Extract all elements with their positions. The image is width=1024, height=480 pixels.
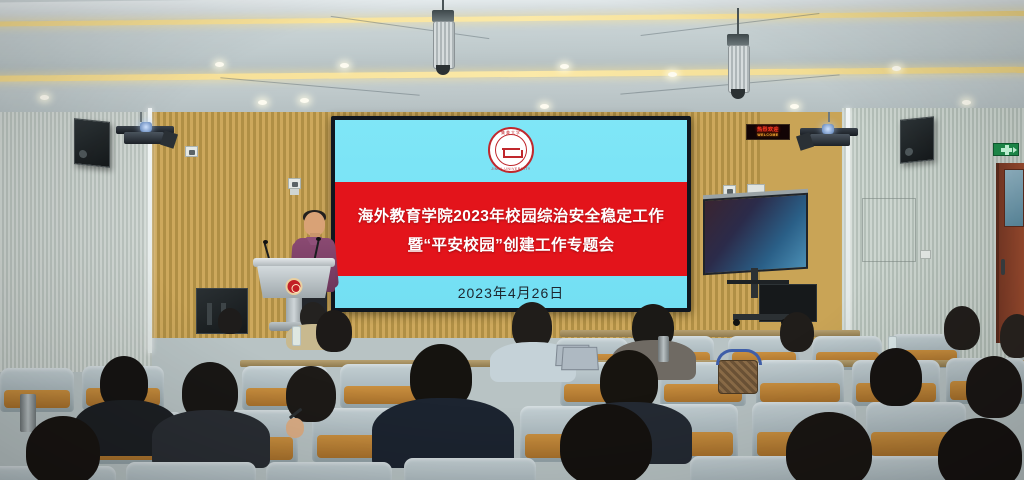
thermos	[658, 336, 669, 362]
ceiling-downlight	[962, 100, 971, 105]
led-presentation-screen[interactable]: 集美大学 JIMEI UNIVERSITY 海外教育学院2023年校园综治安全稳…	[331, 116, 691, 312]
seal-inner-ring	[495, 134, 527, 166]
ceiling-downlight	[560, 64, 569, 69]
podium-top-surface	[253, 258, 335, 267]
audience-head	[560, 404, 652, 480]
audience-head	[218, 308, 242, 334]
audience-head	[870, 348, 922, 406]
audience-head	[966, 356, 1022, 418]
seal-gate-icon	[502, 144, 520, 156]
jimei-university-seal-icon: 集美大学 JIMEI UNIVERSITY	[488, 127, 534, 173]
wall-speaker-left	[74, 118, 110, 168]
speaker-badge	[79, 150, 87, 159]
laptop[interactable]	[561, 347, 599, 370]
handbag	[718, 360, 758, 394]
screen-title-line-1: 海外教育学院2023年校园综治安全稳定工作	[358, 204, 664, 226]
stage-light-hanger	[140, 112, 142, 122]
handbag-strap	[716, 349, 762, 365]
light-housing	[124, 132, 164, 144]
audience-head	[786, 412, 872, 480]
projector-cable	[737, 8, 739, 36]
podium-university-emblem-icon	[286, 278, 303, 295]
camera-mount	[290, 189, 299, 195]
led-marquee-line-2: WELCOME	[757, 133, 778, 137]
water-bottle	[292, 326, 301, 346]
speaker-badge	[905, 147, 913, 156]
screen-title-banner: 海外教育学院2023年校园综治安全稳定工作 暨“平安校园”创建工作专题会	[335, 182, 687, 276]
tv-screen-surface	[703, 193, 808, 275]
ceiling-downlight	[340, 63, 349, 68]
chair	[756, 360, 844, 406]
wall-outlet	[920, 250, 931, 259]
light-lamp	[140, 122, 152, 132]
door-handle[interactable]	[1001, 259, 1005, 275]
screen-title-line-2: 暨“平安校园”创建工作专题会	[407, 233, 614, 255]
seal-arc-bottom-text: JIMEI UNIVERSITY	[490, 167, 532, 171]
microphone-head-right	[316, 237, 321, 241]
stage-light-left	[116, 118, 174, 148]
ceiling-downlight	[215, 62, 224, 67]
audience-head	[1000, 314, 1024, 358]
projector-body	[728, 45, 750, 93]
chair-wood-back	[4, 390, 71, 408]
projector-body	[433, 21, 455, 69]
light-housing	[810, 134, 850, 146]
chair	[266, 462, 392, 480]
ceiling-downlight	[300, 98, 309, 103]
ceiling-downlight	[40, 95, 49, 100]
thermos	[20, 394, 36, 432]
audience-shoulders	[152, 410, 270, 468]
audience-head	[316, 310, 352, 352]
audience-head	[26, 416, 100, 480]
exit-cross-icon	[1001, 148, 1012, 152]
conference-hall-photo: 集美大学 JIMEI UNIVERSITY 海外教育学院2023年校园综治安全稳…	[0, 0, 1024, 480]
wall-access-panel	[862, 198, 916, 262]
audience-head	[938, 418, 1022, 480]
chair	[126, 462, 256, 480]
screen-surface: 集美大学 JIMEI UNIVERSITY 海外教育学院2023年校园综治安全稳…	[335, 120, 687, 308]
seated-audience	[0, 300, 1024, 480]
light-lamp	[822, 124, 834, 134]
microphone-head-left	[263, 240, 268, 244]
audience-hand	[286, 418, 304, 438]
ceiling-downlight	[258, 100, 267, 105]
wall-speaker-right	[900, 116, 934, 164]
desk-row-far	[560, 330, 860, 337]
ceiling-downlight	[790, 104, 799, 109]
stage-light-right	[800, 120, 858, 150]
ceiling-downlight	[668, 72, 677, 77]
ceiling-downlight	[892, 66, 901, 71]
security-camera-center	[288, 178, 301, 189]
audience-head	[780, 312, 814, 352]
exit-arrow-icon	[1013, 147, 1017, 153]
chair	[0, 368, 74, 412]
security-camera-left	[185, 146, 198, 157]
ceiling	[0, 0, 1024, 118]
door-window	[1004, 169, 1024, 227]
ceiling-downlight	[540, 104, 549, 109]
emergency-exit-sign	[993, 143, 1019, 156]
red-led-marquee: 热烈欢迎 WELCOME	[746, 124, 790, 140]
stage-light-hanger	[828, 112, 830, 122]
audience-head	[944, 306, 980, 350]
chair	[404, 458, 536, 480]
chair-wood-back	[760, 383, 839, 402]
